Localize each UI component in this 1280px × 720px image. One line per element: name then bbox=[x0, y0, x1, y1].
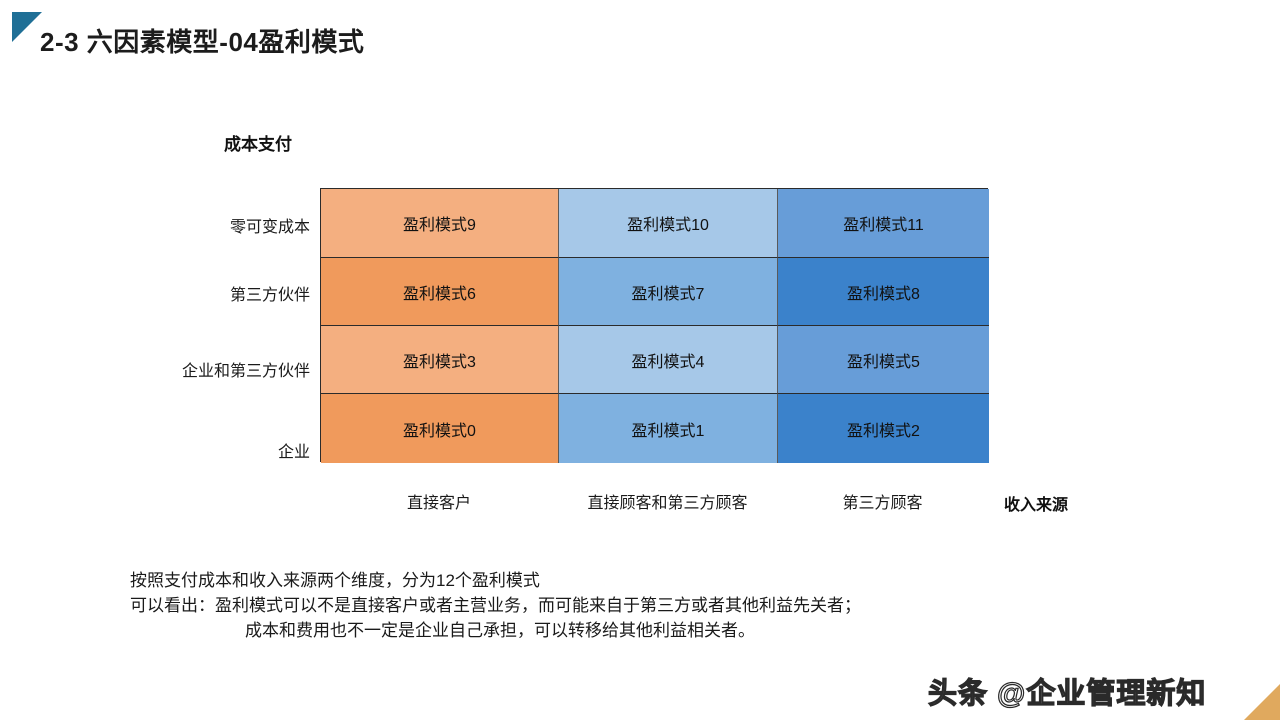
note-line-2: 可以看出：盈利模式可以不是直接客户或者主营业务，而可能来自于第三方或者其他利益先… bbox=[130, 593, 1210, 618]
x-axis-title: 收入来源 bbox=[1004, 491, 1068, 515]
matrix-cell[interactable]: 盈利模式7 bbox=[559, 258, 778, 326]
matrix-cell[interactable]: 盈利模式1 bbox=[559, 394, 778, 463]
matrix-cell[interactable]: 盈利模式10 bbox=[559, 189, 778, 258]
matrix-cell[interactable]: 盈利模式3 bbox=[321, 326, 559, 394]
matrix-cell[interactable]: 盈利模式5 bbox=[778, 326, 989, 394]
matrix-cell[interactable]: 盈利模式8 bbox=[778, 258, 989, 326]
matrix-cell[interactable]: 盈利模式4 bbox=[559, 326, 778, 394]
col-label-direct-and-third-party: 直接顾客和第三方顾客 bbox=[558, 489, 777, 513]
note-line-3: 成本和费用也不一定是企业自己承担，可以转移给其他利益相关者。 bbox=[130, 618, 1210, 643]
watermark-corner-icon bbox=[1244, 684, 1280, 720]
matrix-cell[interactable]: 盈利模式2 bbox=[778, 394, 989, 463]
row-label-company: 企业 bbox=[120, 438, 310, 462]
col-label-direct-customer: 直接客户 bbox=[320, 489, 558, 513]
row-label-third-party-partner: 第三方伙伴 bbox=[120, 281, 310, 305]
note-line-1: 按照支付成本和收入来源两个维度，分为12个盈利模式 bbox=[130, 568, 1210, 593]
matrix-cell[interactable]: 盈利模式6 bbox=[321, 258, 559, 326]
matrix-cell[interactable]: 盈利模式11 bbox=[778, 189, 989, 258]
matrix-cell[interactable]: 盈利模式9 bbox=[321, 189, 559, 258]
matrix-cell[interactable]: 盈利模式0 bbox=[321, 394, 559, 463]
matrix-grid: 盈利模式9 盈利模式10 盈利模式11 盈利模式6 盈利模式7 盈利模式8 盈利… bbox=[320, 188, 988, 462]
watermark-text: 头条 @企业管理新知 bbox=[928, 670, 1206, 712]
notes-block: 按照支付成本和收入来源两个维度，分为12个盈利模式 可以看出：盈利模式可以不是直… bbox=[130, 568, 1210, 643]
row-label-company-and-third-party: 企业和第三方伙伴 bbox=[120, 357, 310, 381]
y-axis-title: 成本支付 bbox=[224, 130, 292, 155]
row-label-zero-variable-cost: 零可变成本 bbox=[120, 213, 310, 237]
col-label-third-party-customer: 第三方顾客 bbox=[777, 489, 988, 513]
